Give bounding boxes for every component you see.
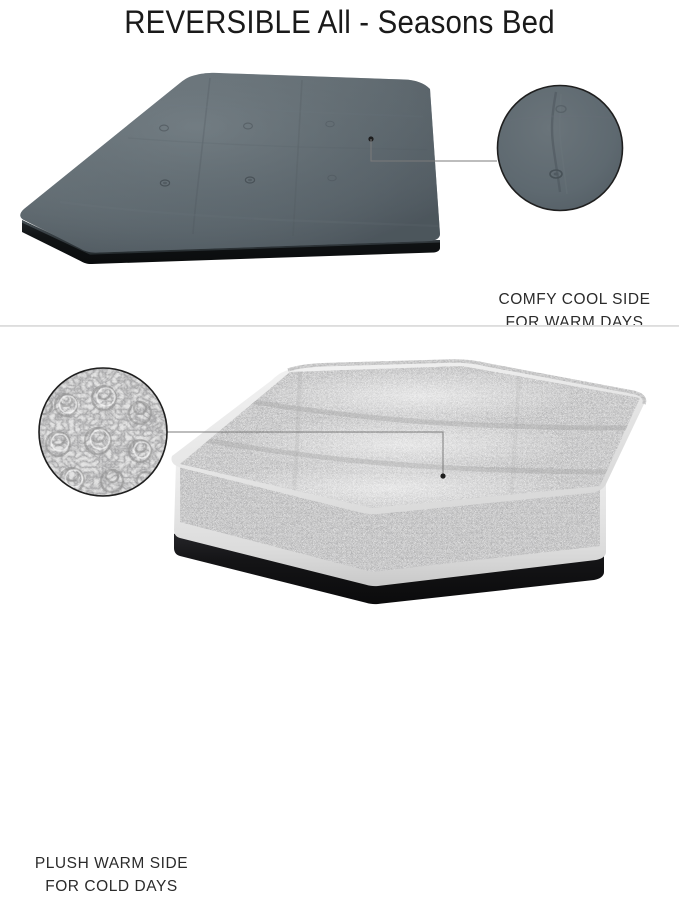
cool-fabric-closeup bbox=[498, 86, 626, 211]
warm-caption-line-2: FOR COLD DAYS bbox=[8, 875, 215, 898]
warm-side-illustration bbox=[0, 336, 679, 629]
cool-mattress-body bbox=[20, 73, 440, 264]
cool-side-panel: COMFY COOL SIDE FOR WARM DAYS bbox=[0, 52, 679, 320]
cool-caption-line-1: COMFY COOL SIDE bbox=[472, 288, 677, 311]
section-divider bbox=[0, 325, 679, 327]
warm-side-caption: PLUSH WARM SIDE FOR COLD DAYS bbox=[8, 852, 215, 898]
warm-caption-line-1: PLUSH WARM SIDE bbox=[8, 852, 215, 875]
cool-side-caption: COMFY COOL SIDE FOR WARM DAYS bbox=[472, 288, 677, 334]
warm-side-panel: PLUSH WARM SIDE FOR COLD DAYS bbox=[0, 336, 679, 629]
warm-mattress-body bbox=[160, 354, 660, 604]
cool-side-illustration bbox=[0, 52, 679, 320]
plush-fabric-closeup bbox=[35, 364, 171, 500]
page-title: REVERSIBLE All - Seasons Bed bbox=[27, 2, 652, 42]
cool-caption-line-2: FOR WARM DAYS bbox=[472, 311, 677, 334]
